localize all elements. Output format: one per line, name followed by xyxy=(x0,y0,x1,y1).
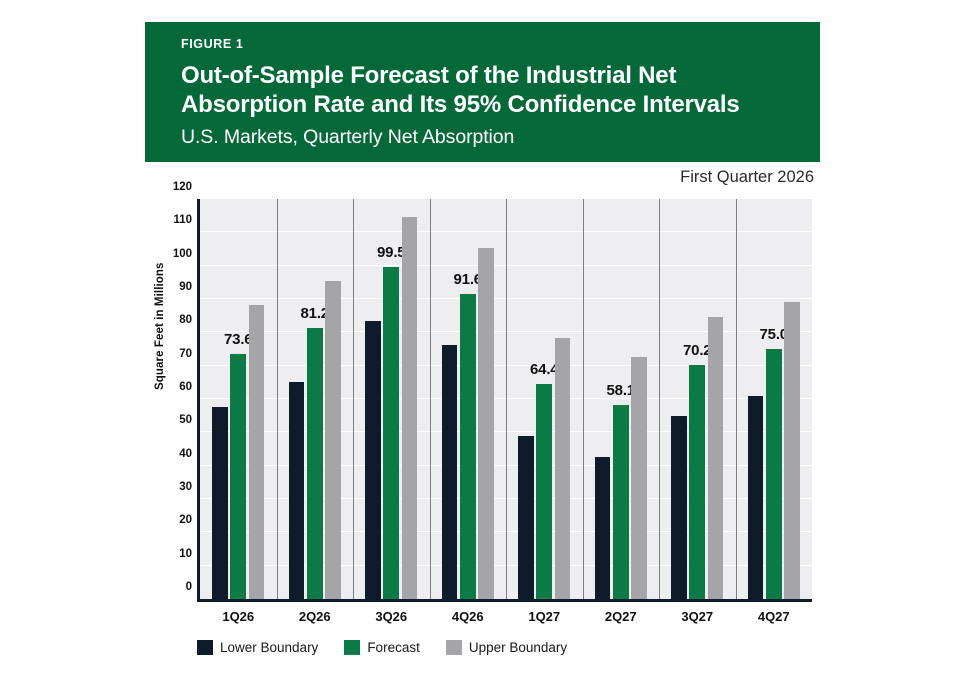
group-separator xyxy=(583,199,584,599)
bar-upper-boundary[interactable] xyxy=(631,357,647,599)
x-axis-tick-label: 1Q27 xyxy=(528,609,560,624)
bar-group: 91.64Q26 xyxy=(430,199,507,599)
bar-group: 58.12Q27 xyxy=(583,199,660,599)
chart-legend: Lower BoundaryForecastUpper Boundary xyxy=(197,640,567,655)
bar-group: 75.04Q27 xyxy=(736,199,813,599)
bar-upper-boundary[interactable] xyxy=(708,317,724,599)
group-separator xyxy=(736,199,737,599)
legend-swatch-icon xyxy=(344,640,360,655)
bar-upper-boundary[interactable] xyxy=(555,338,571,599)
bar-upper-boundary[interactable] xyxy=(249,305,265,599)
legend-item[interactable]: Forecast xyxy=(344,640,420,655)
bar-lower-boundary[interactable] xyxy=(518,436,534,599)
bar-forecast[interactable]: 70.2 xyxy=(689,365,705,599)
bar-upper-boundary[interactable] xyxy=(478,248,494,599)
bar-lower-boundary[interactable] xyxy=(365,321,381,599)
bar-forecast[interactable]: 99.5 xyxy=(383,267,399,599)
bar-upper-boundary[interactable] xyxy=(784,302,800,599)
y-axis-tick-label: 80 xyxy=(179,314,192,326)
x-axis-tick-label: 4Q27 xyxy=(758,609,790,624)
group-separator xyxy=(353,199,354,599)
bar-forecast[interactable]: 58.1 xyxy=(613,405,629,599)
bar-forecast[interactable]: 91.6 xyxy=(460,294,476,599)
x-axis-tick-label: 2Q27 xyxy=(605,609,637,624)
y-axis-tick-label: 40 xyxy=(179,448,192,460)
x-axis-tick-label: 3Q27 xyxy=(681,609,713,624)
legend-label: Upper Boundary xyxy=(469,640,567,655)
y-axis-tick-label: 90 xyxy=(179,281,192,293)
figure-container: FIGURE 1 Out-of-Sample Forecast of the I… xyxy=(0,0,965,699)
bar-lower-boundary[interactable] xyxy=(595,457,611,599)
bar-forecast[interactable]: 73.6 xyxy=(230,354,246,599)
bar-upper-boundary[interactable] xyxy=(402,217,418,599)
y-axis-tick-label: 120 xyxy=(173,181,192,193)
legend-swatch-icon xyxy=(197,640,213,655)
group-separator xyxy=(277,199,278,599)
legend-swatch-icon xyxy=(446,640,462,655)
header-banner: FIGURE 1 Out-of-Sample Forecast of the I… xyxy=(145,22,820,162)
plot-area: 010203040506070809010011012073.61Q2681.2… xyxy=(197,199,812,602)
group-separator xyxy=(430,199,431,599)
legend-label: Lower Boundary xyxy=(220,640,318,655)
x-axis-tick-label: 4Q26 xyxy=(452,609,484,624)
legend-item[interactable]: Lower Boundary xyxy=(197,640,318,655)
figure-title: Out-of-Sample Forecast of the Industrial… xyxy=(181,61,791,119)
figure-subtitle: U.S. Markets, Quarterly Net Absorption xyxy=(181,125,820,149)
legend-label: Forecast xyxy=(367,640,420,655)
y-axis-tick-label: 20 xyxy=(179,514,192,526)
y-axis-tick-label: 70 xyxy=(179,348,192,360)
bar-upper-boundary[interactable] xyxy=(325,281,341,599)
bar-forecast[interactable]: 75.0 xyxy=(766,349,782,599)
bar-group: 70.23Q27 xyxy=(659,199,736,599)
y-axis-title: Square Feet in Millions xyxy=(154,262,166,390)
bar-lower-boundary[interactable] xyxy=(442,345,458,599)
bar-forecast[interactable]: 64.4 xyxy=(536,384,552,599)
bar-group: 64.41Q27 xyxy=(506,199,583,599)
bar-lower-boundary[interactable] xyxy=(212,407,228,599)
x-axis-tick-label: 2Q26 xyxy=(299,609,331,624)
x-axis-tick-label: 1Q26 xyxy=(222,609,254,624)
y-axis-tick-label: 110 xyxy=(173,214,192,226)
y-axis-tick-label: 60 xyxy=(179,381,192,393)
chart-area: Square Feet in Millions 0102030405060708… xyxy=(150,190,820,650)
bar-lower-boundary[interactable] xyxy=(748,396,764,599)
bar-group: 99.53Q26 xyxy=(353,199,430,599)
y-axis-tick-label: 50 xyxy=(179,414,192,426)
y-axis-tick-label: 100 xyxy=(173,248,192,260)
bar-forecast[interactable]: 81.2 xyxy=(307,328,323,599)
group-separator xyxy=(659,199,660,599)
figure-number-label: FIGURE 1 xyxy=(181,38,820,52)
y-axis-tick-label: 10 xyxy=(179,548,192,560)
bar-lower-boundary[interactable] xyxy=(289,382,305,599)
legend-item[interactable]: Upper Boundary xyxy=(446,640,567,655)
chart-annotation: First Quarter 2026 xyxy=(680,168,814,187)
x-axis-tick-label: 3Q26 xyxy=(375,609,407,624)
bar-lower-boundary[interactable] xyxy=(671,416,687,599)
y-axis-tick-label: 0 xyxy=(186,581,192,593)
bar-group: 81.22Q26 xyxy=(277,199,354,599)
bar-group: 73.61Q26 xyxy=(200,199,277,599)
group-separator xyxy=(506,199,507,599)
y-axis-tick-label: 30 xyxy=(179,481,192,493)
plot-inner: 010203040506070809010011012073.61Q2681.2… xyxy=(200,199,812,599)
